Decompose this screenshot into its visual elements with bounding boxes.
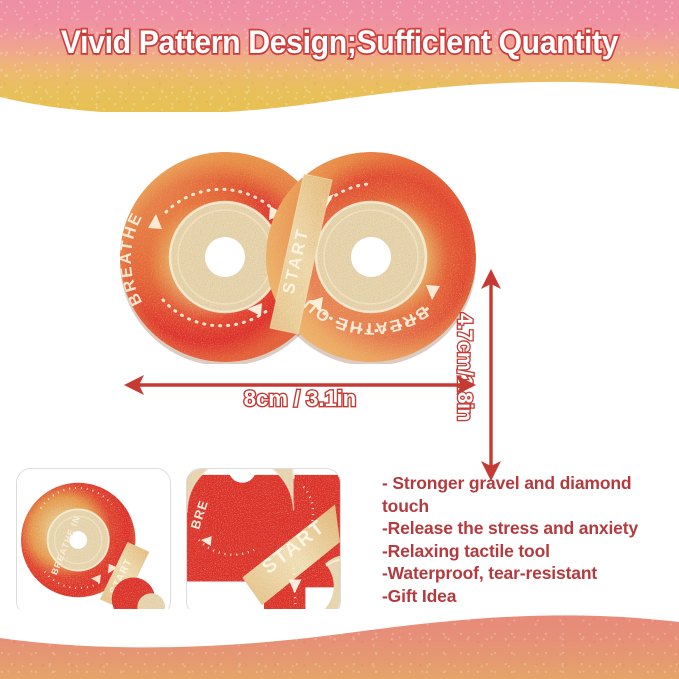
- feature-item-2: -Release the stress and anxiety: [382, 517, 672, 540]
- page-title: Vivid Pattern Design;Sufficient Quantity: [24, 24, 655, 61]
- dimension-height: 4.7cm/1.8in: [478, 267, 524, 483]
- feature-item-5: -Gift Idea: [382, 585, 672, 608]
- thumbnail-card-2[interactable]: START BRE: [186, 468, 341, 616]
- feature-list: - Stronger gravel and diamond touch -Rel…: [382, 472, 672, 607]
- right-center-hole: [351, 237, 391, 277]
- closeup-breathe-in-disc: BREATHE IN START: [17, 469, 170, 615]
- left-center-hole: [205, 237, 245, 277]
- dimension-width: 8cm / 3.1in: [122, 374, 478, 426]
- product-image-infinity-disc: BREATHE IN BREATHE OUT: [118, 150, 478, 364]
- infinity-disc-graphic: BREATHE IN BREATHE OUT: [118, 150, 478, 364]
- header-banner: Vivid Pattern Design;Sufficient Quantity: [0, 0, 679, 112]
- footer-wave-divider: [0, 609, 679, 652]
- header-wave-divider: [0, 67, 679, 112]
- feature-item-1: - Stronger gravel and diamond touch: [382, 472, 672, 517]
- footer-banner: [0, 609, 679, 679]
- product-hero-section: BREATHE IN BREATHE OUT: [0, 112, 679, 452]
- bottom-section: BREATHE IN START: [0, 460, 679, 630]
- closeup-start-ribbon: START BRE: [187, 469, 340, 615]
- vertical-arrow: [478, 267, 524, 483]
- feature-item-4: -Waterproof, tear-resistant: [382, 562, 672, 585]
- feature-item-3: -Relaxing tactile tool: [382, 540, 672, 563]
- dimension-width-label: 8cm / 3.1in: [122, 386, 478, 412]
- thumbnail-card-1[interactable]: BREATHE IN START: [16, 468, 171, 616]
